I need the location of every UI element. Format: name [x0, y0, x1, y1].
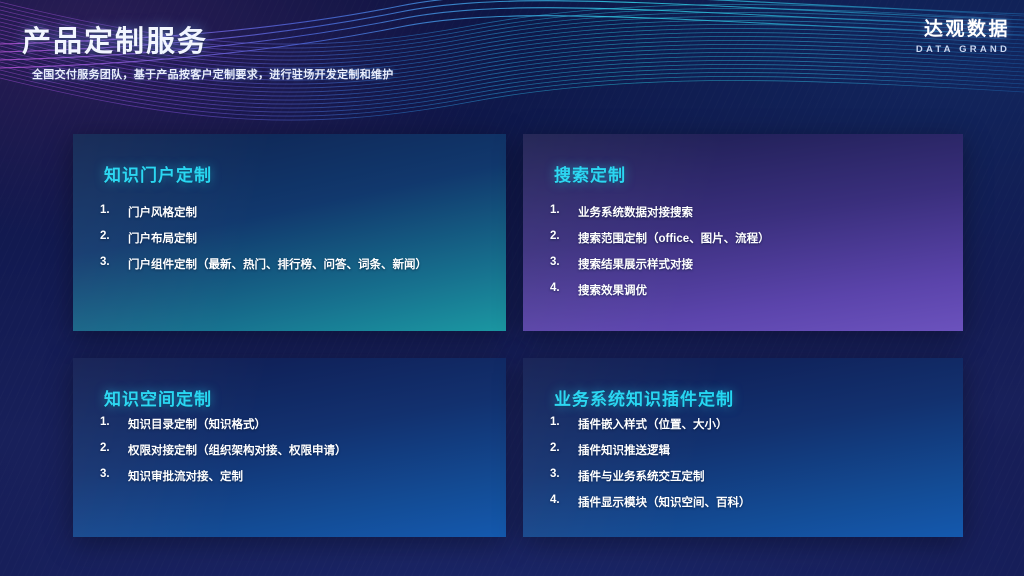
- card-list: 1.知识目录定制（知识格式）2.权限对接定制（组织架构对接、权限申请）3.知识审…: [100, 416, 490, 494]
- card-knowledge-space[interactable]: 知识空间定制 1.知识目录定制（知识格式）2.权限对接定制（组织架构对接、权限申…: [73, 358, 506, 537]
- list-item-number: 2.: [100, 442, 128, 454]
- slide-root: 产品定制服务 全国交付服务团队，基于产品按客户定制要求，进行驻场开发定制和维护 …: [0, 0, 1024, 576]
- list-item-number: 3.: [100, 256, 128, 268]
- list-item: 4.插件显示模块（知识空间、百科）: [550, 494, 947, 510]
- list-item: 3.搜索结果展示样式对接: [550, 256, 947, 272]
- list-item-label: 门户组件定制（最新、热门、排行榜、问答、词条、新闻）: [128, 256, 490, 272]
- list-item-label: 搜索结果展示样式对接: [578, 256, 947, 272]
- list-item-label: 知识审批流对接、定制: [128, 468, 490, 484]
- list-item-label: 搜索范围定制（office、图片、流程）: [578, 230, 947, 246]
- list-item: 1.插件嵌入样式（位置、大小）: [550, 416, 947, 432]
- list-item: 1.业务系统数据对接搜索: [550, 204, 947, 220]
- card-title: 知识空间定制: [104, 385, 212, 410]
- page-subtitle: 全国交付服务团队，基于产品按客户定制要求，进行驻场开发定制和维护: [32, 66, 394, 82]
- list-item-label: 插件知识推送逻辑: [578, 442, 947, 458]
- list-item-number: 3.: [100, 468, 128, 480]
- list-item-number: 4.: [550, 282, 578, 294]
- list-item-label: 门户布局定制: [128, 230, 490, 246]
- list-item-label: 插件与业务系统交互定制: [578, 468, 947, 484]
- list-item: 3.插件与业务系统交互定制: [550, 468, 947, 484]
- list-item-number: 2.: [550, 230, 578, 242]
- list-item-label: 插件显示模块（知识空间、百科）: [578, 494, 947, 510]
- list-item: 2.门户布局定制: [100, 230, 490, 246]
- card-title: 知识门户定制: [104, 161, 212, 186]
- list-item-label: 权限对接定制（组织架构对接、权限申请）: [128, 442, 490, 458]
- page-title: 产品定制服务: [22, 18, 208, 60]
- brand-logo: 达观数据 DATA GRAND: [916, 14, 1010, 55]
- list-item-number: 4.: [550, 494, 578, 506]
- brand-logo-en: DATA GRAND: [916, 44, 1010, 55]
- card-title: 业务系统知识插件定制: [554, 385, 734, 410]
- slide-header: 产品定制服务 全国交付服务团队，基于产品按客户定制要求，进行驻场开发定制和维护 …: [0, 0, 1024, 110]
- list-item-label: 门户风格定制: [128, 204, 490, 220]
- list-item-number: 2.: [550, 442, 578, 454]
- list-item: 3.知识审批流对接、定制: [100, 468, 490, 484]
- list-item: 1.门户风格定制: [100, 204, 490, 220]
- list-item: 4.搜索效果调优: [550, 282, 947, 298]
- card-search-customization[interactable]: 搜索定制 1.业务系统数据对接搜索2.搜索范围定制（office、图片、流程）3…: [523, 134, 963, 331]
- list-item-number: 1.: [550, 416, 578, 428]
- list-item-number: 3.: [550, 468, 578, 480]
- list-item-label: 业务系统数据对接搜索: [578, 204, 947, 220]
- list-item-number: 3.: [550, 256, 578, 268]
- list-item-number: 1.: [100, 416, 128, 428]
- card-knowledge-portal[interactable]: 知识门户定制 1.门户风格定制2.门户布局定制3.门户组件定制（最新、热门、排行…: [73, 134, 506, 331]
- card-list: 1.插件嵌入样式（位置、大小）2.插件知识推送逻辑3.插件与业务系统交互定制4.…: [550, 416, 947, 520]
- list-item: 2.权限对接定制（组织架构对接、权限申请）: [100, 442, 490, 458]
- list-item: 1.知识目录定制（知识格式）: [100, 416, 490, 432]
- list-item-number: 1.: [100, 204, 128, 216]
- list-item-number: 2.: [100, 230, 128, 242]
- card-title: 搜索定制: [554, 161, 626, 186]
- card-business-plugin[interactable]: 业务系统知识插件定制 1.插件嵌入样式（位置、大小）2.插件知识推送逻辑3.插件…: [523, 358, 963, 537]
- card-list: 1.业务系统数据对接搜索2.搜索范围定制（office、图片、流程）3.搜索结果…: [550, 204, 947, 308]
- list-item-label: 插件嵌入样式（位置、大小）: [578, 416, 947, 432]
- list-item: 2.插件知识推送逻辑: [550, 442, 947, 458]
- list-item-number: 1.: [550, 204, 578, 216]
- brand-logo-cn: 达观数据: [916, 14, 1010, 41]
- list-item: 3.门户组件定制（最新、热门、排行榜、问答、词条、新闻）: [100, 256, 490, 272]
- list-item-label: 知识目录定制（知识格式）: [128, 416, 490, 432]
- list-item-label: 搜索效果调优: [578, 282, 947, 298]
- list-item: 2.搜索范围定制（office、图片、流程）: [550, 230, 947, 246]
- card-list: 1.门户风格定制2.门户布局定制3.门户组件定制（最新、热门、排行榜、问答、词条…: [100, 204, 490, 282]
